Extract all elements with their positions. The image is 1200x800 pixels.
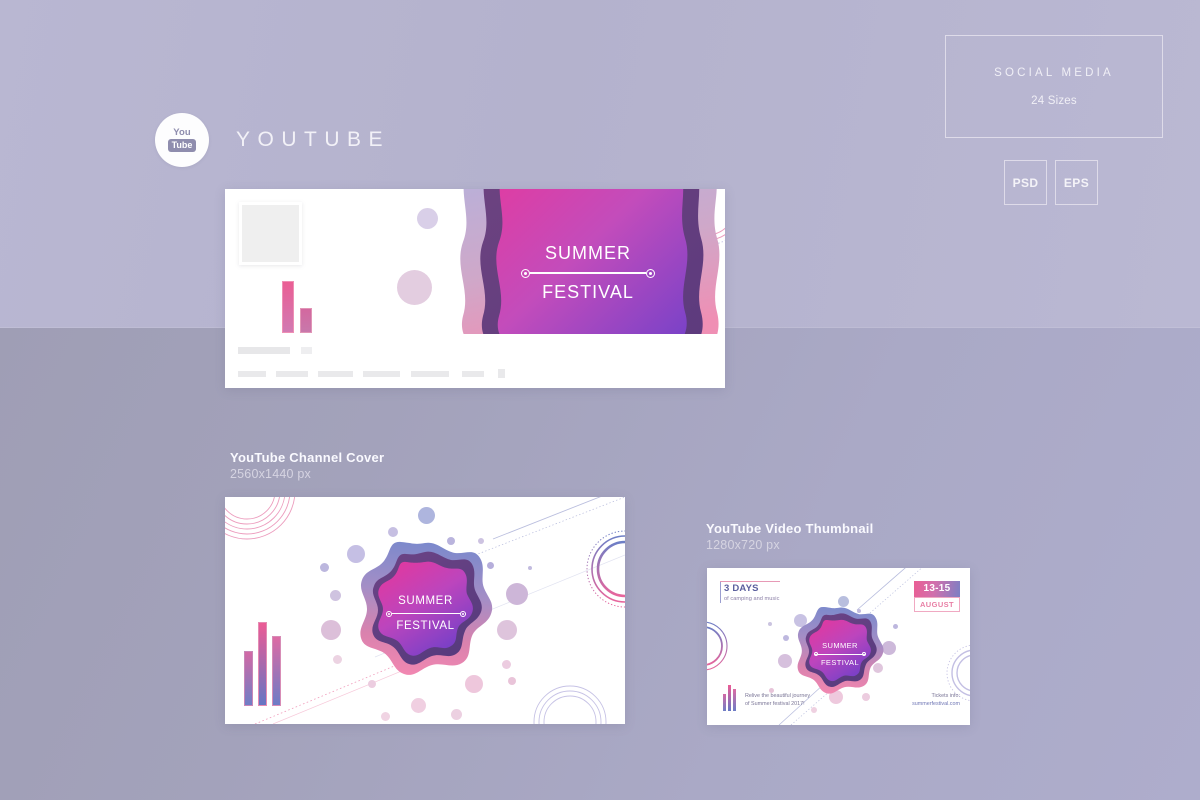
bar — [272, 636, 281, 706]
decor-circle — [783, 635, 789, 641]
summer-festival-badge: SUMMER FESTIVAL — [358, 541, 493, 681]
summer-festival-badge: SUMMER FESTIVAL — [453, 189, 723, 334]
decor-circle — [811, 707, 817, 713]
thumbnail-days-block: 3 DAYS of camping and music — [724, 584, 779, 602]
decor-circle — [388, 527, 398, 537]
decor-circle — [508, 677, 516, 685]
social-media-badge: SOCIAL MEDIA 24 Sizes — [945, 35, 1163, 138]
thumbnail-date-badge: 13-15 AUGUST — [914, 581, 960, 612]
nav-placeholder-item[interactable] — [462, 371, 484, 377]
decor-circle — [768, 622, 772, 626]
decor-circle — [411, 698, 426, 713]
mockup-label-title: YouTube Video Thumbnail — [706, 521, 874, 536]
screenshot-stage: You Tube YOUTUBE SOCIAL MEDIA 24 Sizes P… — [0, 0, 1200, 800]
decor-corner-rule-horizontal — [720, 581, 780, 582]
tickets-label: Tickets info: — [912, 693, 960, 701]
tagline-line1: Relive the beautiful journey — [745, 693, 810, 701]
page-title: YOUTUBE — [236, 128, 390, 152]
decor-bar-chart — [282, 281, 312, 333]
bar — [733, 689, 736, 711]
spacer — [400, 371, 411, 377]
social-media-subtitle: 24 Sizes — [1031, 95, 1077, 107]
placeholder-bar — [238, 347, 290, 354]
decor-bar-chart — [723, 685, 736, 711]
decor-circle — [882, 641, 896, 655]
decor-circle — [502, 660, 511, 669]
placeholder-bar — [301, 347, 312, 354]
decor-circle — [893, 624, 898, 629]
decor-circle — [769, 688, 774, 693]
thumbnail-days-title: 3 DAYS — [724, 584, 779, 595]
spacer — [484, 371, 498, 377]
decor-circle — [381, 712, 390, 721]
nav-placeholder-item[interactable] — [363, 371, 400, 377]
bar — [300, 308, 312, 333]
date-month: AUGUST — [914, 597, 960, 612]
youtube-logo-tube-text: Tube — [168, 139, 197, 152]
youtube-logo-icon: You Tube — [155, 113, 209, 167]
date-range: 13-15 — [914, 581, 960, 597]
mockup-label-channel-cover: YouTube Channel Cover 2560x1440 px — [230, 450, 384, 481]
decor-circle — [330, 590, 341, 601]
channel-banner-artwork: SUMMER FESTIVAL — [225, 189, 725, 334]
mockup-label-size: 2560x1440 px — [230, 467, 384, 481]
channel-nav-placeholder — [238, 369, 505, 378]
mockup-label-video-thumbnail: YouTube Video Thumbnail 1280x720 px — [706, 521, 874, 552]
thumbnail-tagline-block: Relive the beautiful journey of Summer f… — [745, 693, 810, 709]
mockup-label-size: 1280x720 px — [706, 538, 874, 552]
format-badge-eps: EPS — [1055, 160, 1098, 205]
channel-name-placeholder — [238, 341, 312, 359]
decor-circle — [778, 654, 792, 668]
decor-circle — [333, 655, 342, 664]
nav-placeholder-item[interactable] — [238, 371, 266, 377]
decor-bar-chart — [244, 622, 281, 706]
mockup-video-thumbnail: SUMMER FESTIVAL 3 DAYS of camping and mu… — [707, 568, 970, 725]
social-media-title: SOCIAL MEDIA — [994, 67, 1114, 79]
decor-circle — [321, 620, 341, 640]
spacer — [449, 371, 462, 377]
mockup-label-title: YouTube Channel Cover — [230, 450, 384, 465]
thumbnail-tickets-block: Tickets info: summerfestival.com — [912, 693, 960, 709]
decor-circle — [506, 583, 528, 605]
nav-placeholder-search[interactable] — [498, 369, 505, 378]
youtube-logo-you-text: You — [173, 128, 191, 138]
decor-circle — [368, 680, 376, 688]
summer-festival-badge: SUMMER FESTIVAL — [796, 606, 884, 698]
tickets-url[interactable]: summerfestival.com — [912, 701, 960, 709]
decor-circle — [418, 507, 435, 524]
thumbnail-days-subtitle: of camping and music — [724, 596, 779, 602]
bar — [244, 651, 253, 706]
bar — [258, 622, 267, 706]
decor-corner-rule-vertical — [720, 581, 721, 603]
spacer — [266, 371, 276, 377]
mockup-youtube-channel-cover: SUMMER FESTIVAL — [225, 497, 625, 724]
nav-placeholder-item[interactable] — [276, 371, 308, 377]
spacer — [308, 371, 318, 377]
channel-avatar-placeholder — [239, 202, 302, 265]
decor-circle — [320, 563, 329, 572]
bar — [728, 685, 731, 711]
bar — [282, 281, 294, 333]
decor-circle — [497, 620, 517, 640]
decor-circle — [528, 566, 532, 570]
format-badge-psd: PSD — [1004, 160, 1047, 205]
bar — [723, 694, 726, 711]
decor-circle — [451, 709, 462, 720]
nav-placeholder-item[interactable] — [318, 371, 353, 377]
spacer — [353, 371, 363, 377]
format-badge-row: PSD EPS — [1004, 160, 1098, 205]
tagline-line2: of Summer festival 2017! — [745, 701, 810, 709]
nav-placeholder-item[interactable] — [411, 371, 449, 377]
mockup-youtube-channel-page: SUMMER FESTIVAL — [225, 189, 725, 388]
